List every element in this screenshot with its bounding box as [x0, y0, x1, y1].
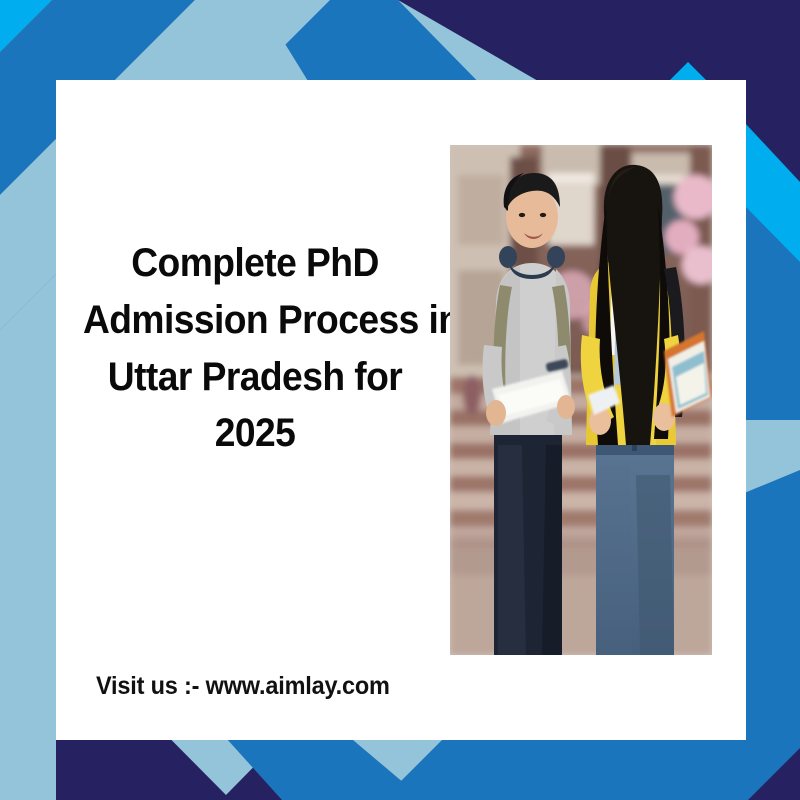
- content-card: Complete PhD Admission Process in Uttar …: [56, 80, 746, 740]
- headline-line-3: Uttar Pradesh for: [83, 349, 427, 406]
- headline-line-1: Complete PhD: [83, 235, 427, 292]
- headline-line-4: 2025: [83, 405, 427, 462]
- poster-canvas: Complete PhD Admission Process in Uttar …: [0, 0, 800, 800]
- page-title: Complete PhD Admission Process in Uttar …: [70, 235, 440, 462]
- students-photo-art: [450, 145, 712, 655]
- headline-line-2: Admission Process in: [83, 292, 427, 349]
- students-photo: [450, 145, 712, 655]
- visit-us-label: Visit us :- www.aimlay.com: [96, 672, 390, 701]
